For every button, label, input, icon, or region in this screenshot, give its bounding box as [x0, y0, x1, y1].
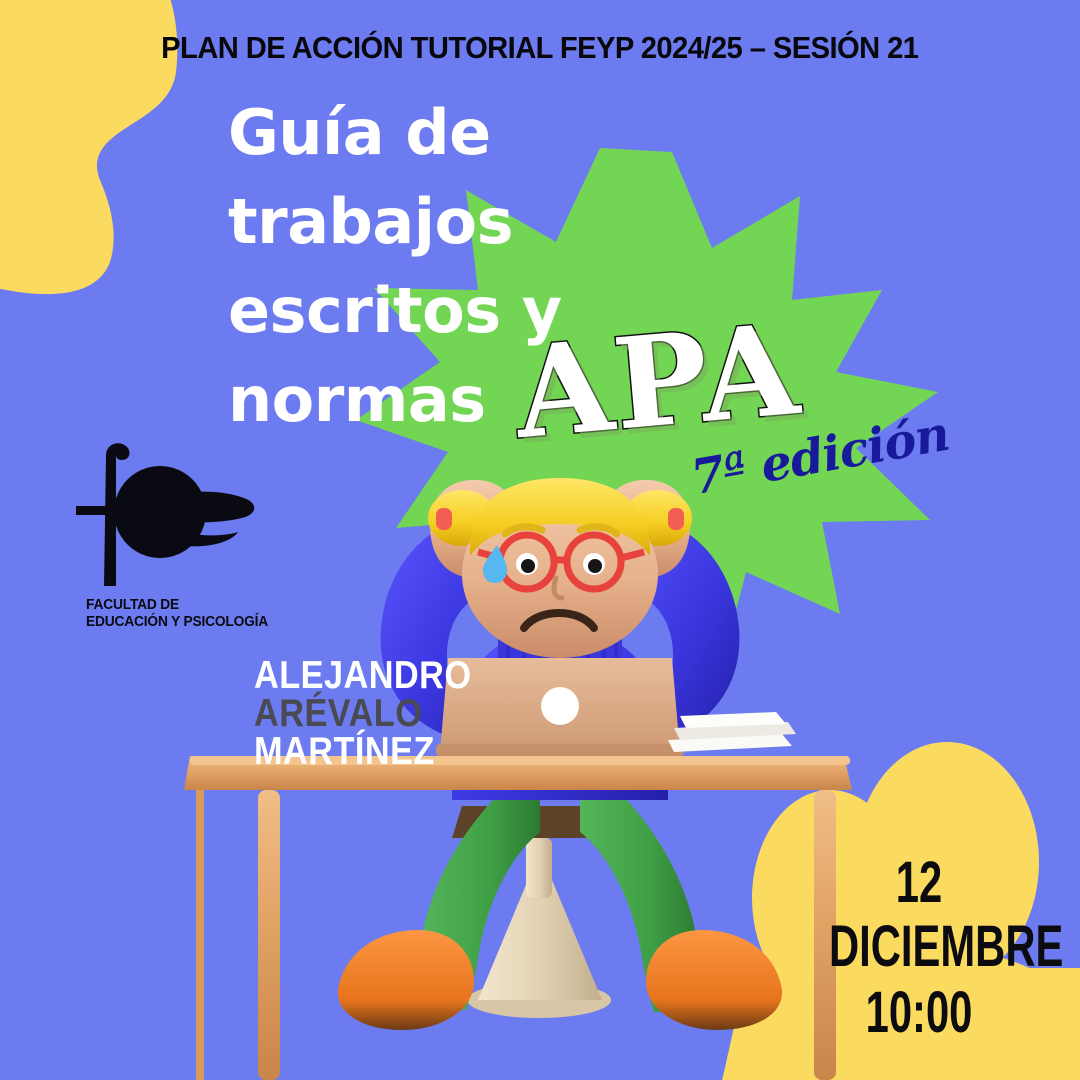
- fe-monogram-icon: [72, 440, 272, 590]
- event-time: 10:00: [829, 980, 1009, 1046]
- event-month: DICIEMBRE: [829, 914, 1009, 980]
- event-datetime: 12 DICIEMBRE 10:00: [794, 852, 1044, 1046]
- title-line-2: trabajos: [228, 177, 658, 266]
- head: [428, 478, 692, 658]
- faculty-logo-caption: FACULTAD DE EDUCACIÓN Y PSICOLOGÍA: [86, 597, 277, 631]
- faculty-logo: FACULTAD DE EDUCACIÓN Y PSICOLOGÍA: [72, 440, 287, 631]
- poster-canvas: PLAN DE ACCIÓN TUTORIAL FEYP 2024/25 – S…: [0, 0, 1080, 1080]
- event-day: 12: [829, 852, 1009, 914]
- faculty-caption-line-2: EDUCACIÓN Y PSICOLOGÍA: [86, 614, 277, 631]
- title-line-1: Guía de: [228, 88, 658, 177]
- paper-stack: [668, 712, 796, 752]
- header-banner: PLAN DE ACCIÓN TUTORIAL FEYP 2024/25 – S…: [0, 30, 1080, 66]
- header-title: PLAN DE ACCIÓN TUTORIAL FEYP 2024/25 – S…: [161, 30, 918, 66]
- speaker-line-1: ALEJANDRO: [254, 657, 472, 695]
- faculty-caption-line-1: FACULTAD DE: [86, 597, 277, 614]
- speaker-line-2: ARÉVALO: [254, 695, 472, 733]
- apa-badge: APA: [510, 308, 805, 457]
- speaker-name: ALEJANDRO ARÉVALO MARTÍNEZ: [254, 657, 501, 771]
- speaker-line-3: MARTÍNEZ: [254, 733, 472, 771]
